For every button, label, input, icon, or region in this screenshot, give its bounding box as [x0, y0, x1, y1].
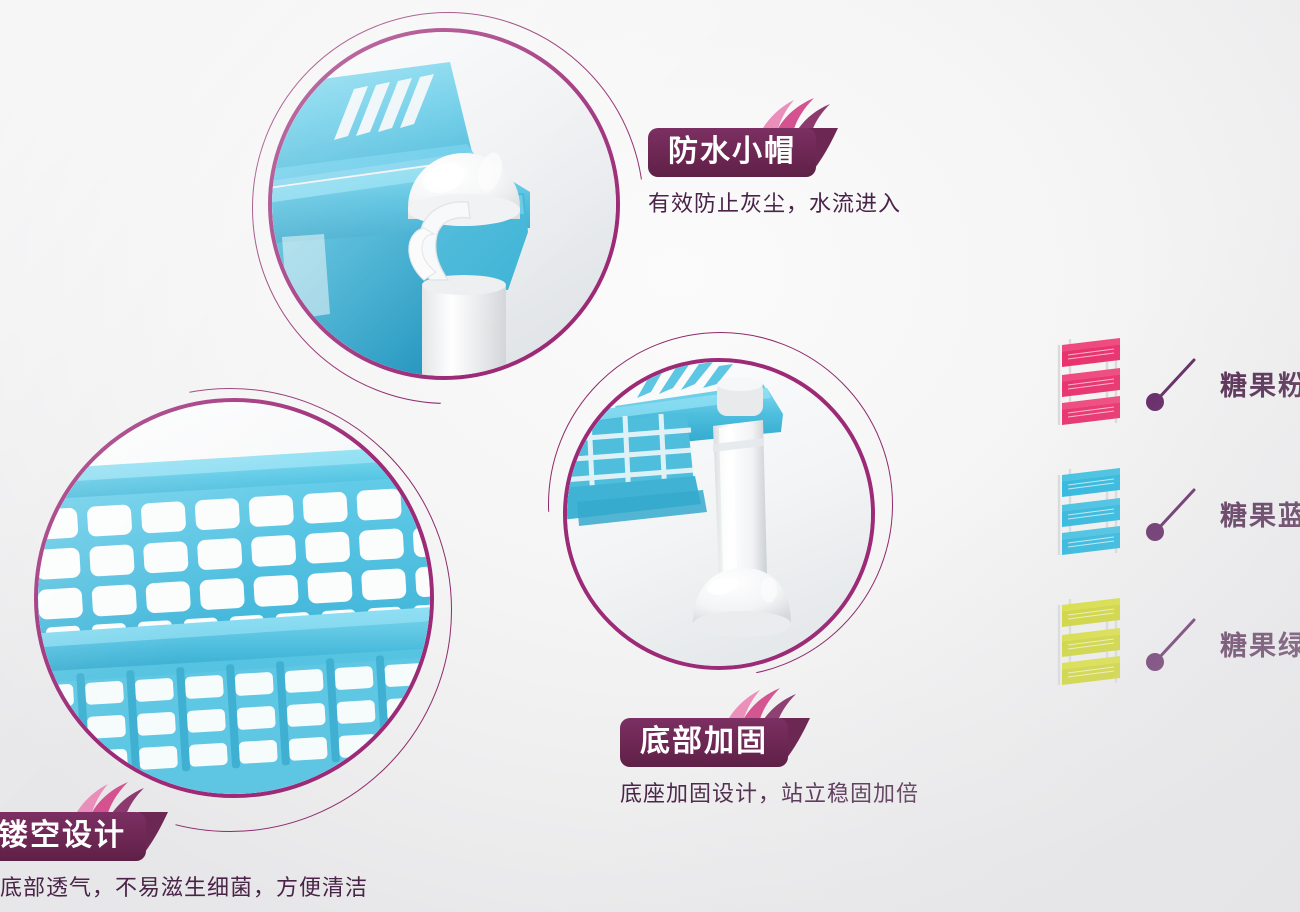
color-option-row[interactable]: 糖果绿 [1050, 578, 1300, 708]
rack-thumbnail-green [1050, 595, 1128, 691]
badge-hollow-design: 镂空设计 [0, 812, 146, 861]
color-option-label: 糖果绿 [1220, 624, 1300, 663]
badge-waterproof-cap: 防水小帽 [648, 128, 816, 177]
waterproof-cap-illustration [272, 32, 616, 376]
badge-title: 镂空设计 [0, 812, 146, 861]
rack-thumbnail-blue [1050, 465, 1128, 561]
hollow-design-illustration [38, 402, 430, 794]
rack-thumbnail-pink [1050, 335, 1128, 431]
product-infographic: 防水小帽 有效防止灰尘，水流进入 [0, 0, 1300, 912]
badge-title: 底部加固 [620, 718, 788, 767]
callout-waterproof-cap: 防水小帽 有效防止灰尘，水流进入 [648, 128, 901, 218]
color-options-list: 糖果粉 [1050, 318, 1300, 708]
bottom-reinforced-illustration [567, 362, 871, 666]
color-option-row[interactable]: 糖果粉 [1050, 318, 1300, 448]
pin-marker-icon [1142, 482, 1204, 544]
photo-circle-hollow-design [34, 398, 434, 798]
photo-hollow-design [38, 402, 430, 794]
callout-subtitle: 底座加固设计，站立稳固加倍 [620, 776, 919, 808]
color-option-label: 糖果蓝 [1220, 494, 1300, 533]
callout-subtitle: 有效防止灰尘，水流进入 [648, 186, 901, 218]
callout-subtitle: 底部透气，不易滋生细菌，方便清洁 [0, 870, 368, 902]
badge-bottom-reinforced: 底部加固 [620, 718, 788, 767]
pin-marker-icon [1142, 612, 1204, 674]
badge-title: 防水小帽 [648, 128, 816, 177]
photo-circle-bottom-reinforced [563, 358, 875, 670]
callout-hollow-design: 镂空设计 底部透气，不易滋生细菌，方便清洁 [0, 812, 368, 902]
pin-marker-icon [1142, 352, 1204, 414]
photo-bottom-reinforced [567, 362, 871, 666]
photo-waterproof-cap [272, 32, 616, 376]
callout-bottom-reinforced: 底部加固 底座加固设计，站立稳固加倍 [620, 718, 919, 808]
color-option-label: 糖果粉 [1220, 364, 1300, 403]
photo-circle-waterproof-cap [268, 28, 620, 380]
color-option-row[interactable]: 糖果蓝 [1050, 448, 1300, 578]
